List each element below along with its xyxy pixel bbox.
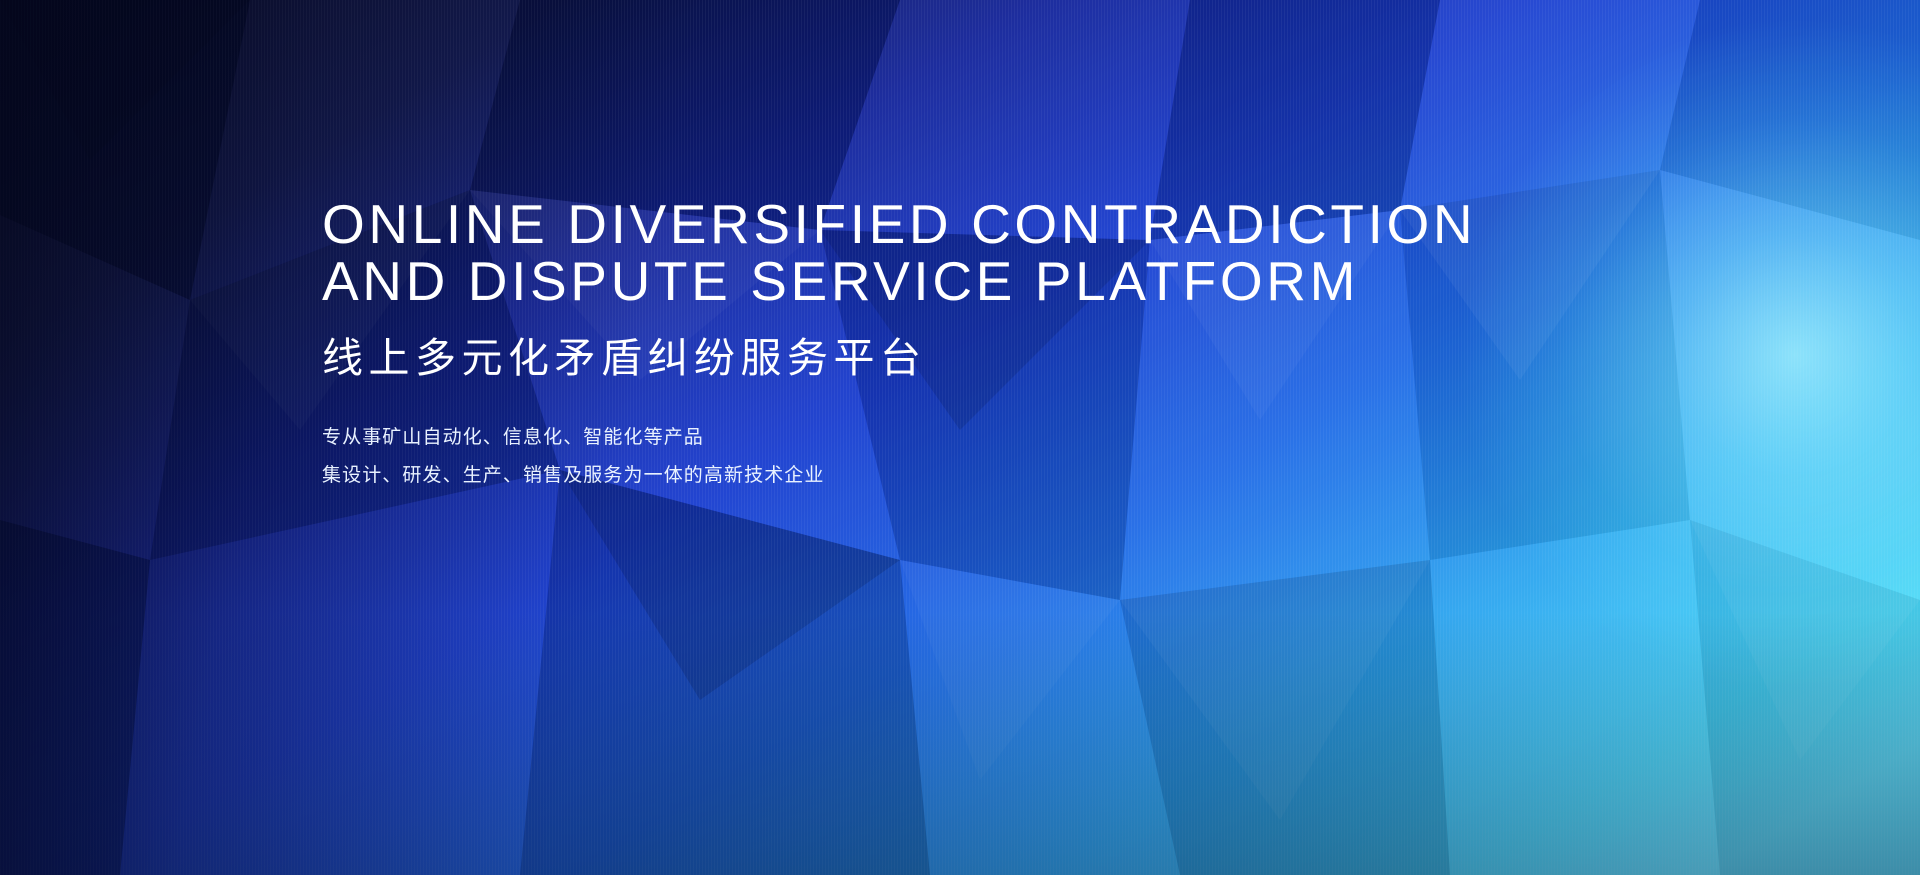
headline-line-2: AND DISPUTE SERVICE PLATFORM xyxy=(322,253,1662,310)
headline-line-1: ONLINE DIVERSIFIED CONTRADICTION xyxy=(322,196,1662,253)
body-line-2: 集设计、研发、生产、销售及服务为一体的高新技术企业 xyxy=(322,457,1662,495)
body-text-group: 专从事矿山自动化、信息化、智能化等产品 集设计、研发、生产、销售及服务为一体的高… xyxy=(322,383,1662,495)
subtitle-chinese: 线上多元化矛盾纠纷服务平台 xyxy=(322,310,1662,383)
hero-text-block: ONLINE DIVERSIFIED CONTRADICTION AND DIS… xyxy=(322,196,1662,495)
body-line-1: 专从事矿山自动化、信息化、智能化等产品 xyxy=(322,419,1662,457)
hero-banner: ONLINE DIVERSIFIED CONTRADICTION AND DIS… xyxy=(0,0,1920,875)
